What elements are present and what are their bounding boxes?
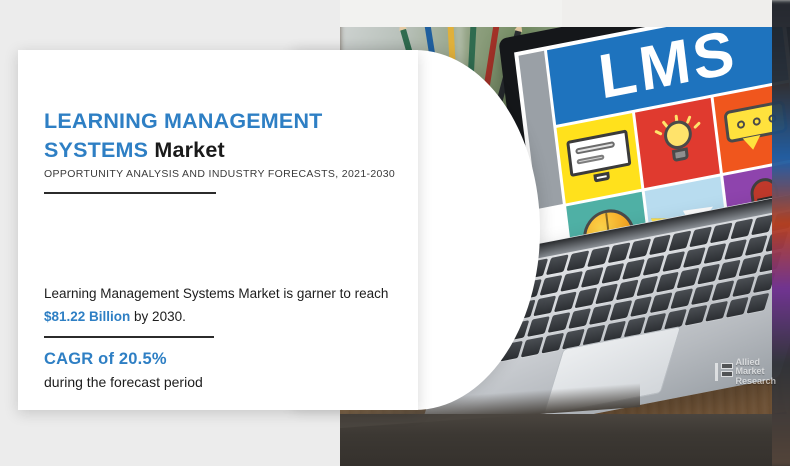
lightbulb-icon	[651, 113, 704, 174]
page-title: LEARNING MANAGEMENT SYSTEMS Market	[44, 107, 374, 165]
title-plain: Market	[154, 138, 225, 162]
logo-text: Allied Market Research	[735, 358, 776, 387]
bulb-tile	[635, 98, 720, 188]
photo-right-seam	[772, 0, 790, 466]
logo-mark-icon	[715, 363, 731, 381]
cagr-caption: during the forecast period	[44, 374, 203, 390]
allied-market-research-logo: Allied Market Research	[715, 358, 776, 387]
photo-bottom-shadow	[340, 414, 790, 466]
divider-bottom	[44, 336, 214, 338]
summary-lead: Learning Management Systems Market is ga…	[44, 286, 388, 301]
divider-top	[44, 192, 216, 194]
cagr-value: CAGR of 20.5%	[44, 350, 167, 369]
market-value: $81.22 Billion	[44, 309, 130, 324]
card-content: LEARNING MANAGEMENT SYSTEMS Market OPPOR…	[18, 50, 418, 410]
poster-canvas: LMS	[0, 0, 790, 466]
summary-text: Learning Management Systems Market is ga…	[44, 282, 394, 328]
summary-tail: by 2030.	[130, 309, 186, 324]
monitor-tile	[557, 113, 642, 203]
page-subtitle: OPPORTUNITY ANALYSIS AND INDUSTRY FORECA…	[44, 168, 394, 180]
monitor-icon	[566, 129, 632, 187]
logo-line-3: Research	[735, 377, 776, 387]
photo-top-band-right	[562, 0, 790, 27]
